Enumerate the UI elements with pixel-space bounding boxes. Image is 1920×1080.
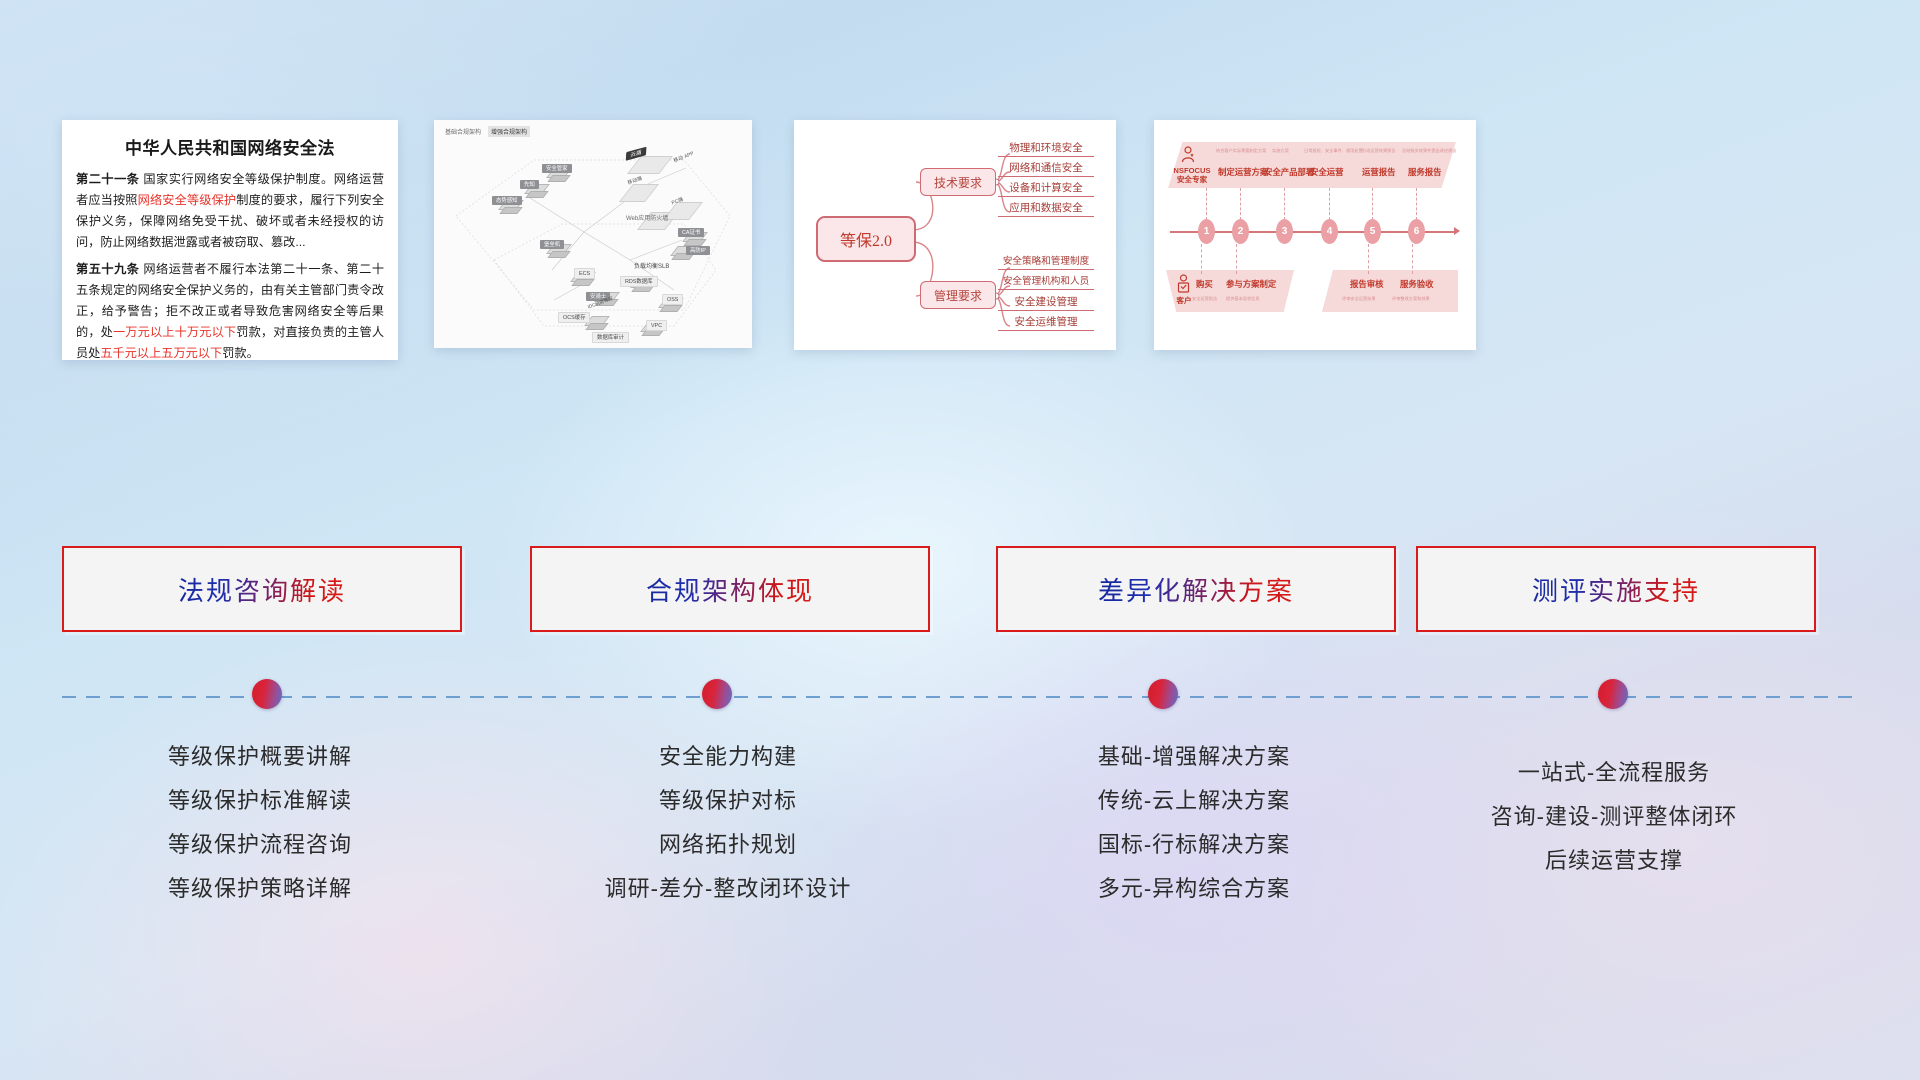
arch-node-db-audit: 数据库审计 <box>592 332 629 343</box>
top-step-3-sub: 日常巡检、安全事件、通用处置 <box>1304 148 1363 154</box>
law-p2-text-c: 罚款。 <box>222 346 259 360</box>
button-label-1: 法规咨询解读 <box>178 571 346 608</box>
mindmap-root-node: 等保2.0 <box>816 216 916 262</box>
button-differentiated-solution[interactable]: 差异化解决方案 <box>996 546 1396 632</box>
brand-nsfocus: NSFOCUS <box>1170 166 1214 175</box>
top-step-2-sub: 实施方案 <box>1272 148 1289 154</box>
timeline-step-dot-6[interactable]: 6 <box>1408 219 1425 244</box>
mindmap-leaf-physical-env: 物理和环境安全 <box>998 142 1094 157</box>
law-p2-highlight-1: 一万元以上十万元以下 <box>113 325 236 339</box>
button-regulation-consulting[interactable]: 法规咨询解读 <box>62 546 462 632</box>
law-article-59-label: 第五十九条 <box>76 262 139 276</box>
list-item: 等级保护流程咨询 <box>62 823 458 867</box>
arch-node-oss: OSS <box>662 294 683 305</box>
customer-icon <box>1176 274 1191 294</box>
timeline-tick-5 <box>1372 188 1373 220</box>
card-row: 中华人民共和国网络安全法 第二十一条 国家实行网络安全等级保护制度。网络运营者应… <box>0 120 1920 360</box>
timeline-tick-1 <box>1206 188 1207 220</box>
bottom-step-1-main: 购买 <box>1196 278 1213 290</box>
bottom-step-4-main: 服务验收 <box>1400 278 1434 290</box>
list-item: 传统-云上解决方案 <box>996 779 1392 823</box>
timeline-tick-b2 <box>1236 244 1237 274</box>
architecture-diagram: 基础合规架构 增强合规架构 <box>434 120 752 348</box>
list-item: 等级保护对标 <box>530 779 926 823</box>
law-p2-highlight-2: 五千元以上五万元以下 <box>100 346 222 360</box>
timeline-tick-b1 <box>1201 244 1202 274</box>
law-paragraph-21: 第二十一条 国家实行网络安全等级保护制度。网络运营者应当按照网络安全等级保护制度… <box>76 169 384 253</box>
mindmap-leaf-policy-system: 安全策略和管理制度 <box>998 256 1094 270</box>
detail-list-row: 等级保护概要讲解 等级保护标准解读 等级保护流程咨询 等级保护策略详解 安全能力… <box>0 735 1920 965</box>
bottom-step-2-sub: 提供基本现状信息 <box>1226 296 1260 302</box>
timeline-step-dot-5[interactable]: 5 <box>1364 219 1381 244</box>
arch-node-anquanguanjia: 安全管家 <box>542 164 572 173</box>
card-mindmap-dengbao[interactable]: 等保2.0 技术要求 管理要求 物理和环境安全 网络和通信安全 设备和计算安全 … <box>794 120 1116 350</box>
law-p1-highlight: 网络安全等级保护 <box>138 193 237 207</box>
arch-node-slb: 负载均衡SLB <box>630 262 673 272</box>
top-step-3-main: 安全运营 <box>1310 166 1344 178</box>
list-item: 多元-异构综合方案 <box>996 867 1392 911</box>
law-article-21-label: 第二十一条 <box>76 172 139 186</box>
law-text-block: 中华人民共和国网络安全法 第二十一条 国家实行网络安全等级保护制度。网络运营者应… <box>62 120 398 360</box>
list-item: 国标-行标解决方案 <box>996 823 1392 867</box>
list-item: 基础-增强解决方案 <box>996 735 1392 779</box>
top-step-1-main: 制定运营方案 <box>1218 166 1268 178</box>
timeline-tick-2 <box>1240 188 1241 220</box>
button-evaluation-support[interactable]: 测评实施支持 <box>1416 546 1816 632</box>
timeline-step-dot-3[interactable]: 3 <box>1276 219 1293 244</box>
mindmap-leaf-org-personnel: 安全管理机构和人员 <box>998 276 1094 290</box>
law-paragraph-59: 第五十九条 网络运营者不履行本法第二十一条、第二十五条规定的网络安全保护义务的，… <box>76 259 384 360</box>
button-compliance-architecture[interactable]: 合规架构体现 <box>530 546 930 632</box>
arch-node-ca-cert: CA证书 <box>678 228 704 237</box>
top-step-4-sub: 形成运营效果报告 <box>1362 148 1396 154</box>
arch-node-rds: RDS数据库 <box>620 276 658 287</box>
list-item: 一站式-全流程服务 <box>1416 751 1812 795</box>
arch-node-baoleiji: 堡垒机 <box>540 240 564 249</box>
detail-list-evaluation: 一站式-全流程服务 咨询-建设-测评整体闭环 后续运营支撑 <box>1416 751 1812 883</box>
arch-node-taishiganzhi: 态势感知 <box>492 196 522 205</box>
process-node-4[interactable] <box>1598 679 1628 709</box>
list-item: 调研-差分-整改闭环设计 <box>530 867 926 911</box>
timeline-arrow-icon <box>1454 227 1460 235</box>
process-node-3[interactable] <box>1148 679 1178 709</box>
process-dashed-line <box>62 696 1852 698</box>
top-step-2-main: 安全产品部署 <box>1264 166 1314 178</box>
list-item: 咨询-建设-测评整体闭环 <box>1416 795 1812 839</box>
category-button-row: 法规咨询解读 合规架构体现 差异化解决方案 测评实施支持 <box>0 546 1920 628</box>
timeline-tick-4 <box>1329 188 1330 220</box>
security-expert-icon <box>1180 146 1196 164</box>
mindmap-leaf-construction-mgmt: 安全建设管理 <box>998 296 1094 311</box>
list-item: 后续运营支撑 <box>1416 839 1812 883</box>
top-step-5-sub: 总结服务效果并提出改进建议 <box>1402 148 1456 154</box>
mindmap-branch-management: 管理要求 <box>920 281 996 309</box>
list-item: 等级保护标准解读 <box>62 779 458 823</box>
top-step-1-sub: 结合客户实际需要制定方案 <box>1216 148 1266 154</box>
timeline-bottom-right-band <box>1322 270 1458 312</box>
law-title: 中华人民共和国网络安全法 <box>76 134 384 159</box>
mindmap-leaf-ops-mgmt: 安全运维管理 <box>998 316 1094 331</box>
list-item: 网络拓扑规划 <box>530 823 926 867</box>
arch-node-ecs: ECS <box>574 268 595 279</box>
timeline-tick-b3 <box>1368 244 1369 274</box>
arch-node-vpc: VPC <box>646 320 667 331</box>
arch-node-ocs-cache: OCS缓存 <box>558 312 590 323</box>
button-label-3: 差异化解决方案 <box>1098 571 1294 608</box>
mindmap-leaf-device-compute: 设备和计算安全 <box>998 182 1094 197</box>
arch-node-waf: Web应用防火墙 <box>622 214 672 224</box>
brand-security-expert: 安全专家 <box>1170 175 1214 184</box>
mindmap: 等保2.0 技术要求 管理要求 物理和环境安全 网络和通信安全 设备和计算安全 … <box>794 120 1116 350</box>
mindmap-branch-technical: 技术要求 <box>920 168 996 196</box>
timeline-step-dot-1[interactable]: 1 <box>1198 219 1215 244</box>
detail-list-architecture: 安全能力构建 等级保护对标 网络拓扑规划 调研-差分-整改闭环设计 <box>530 735 926 911</box>
bottom-step-3-main: 报告审核 <box>1350 278 1384 290</box>
slide-canvas: 中华人民共和国网络安全法 第二十一条 国家实行网络安全等级保护制度。网络运营者应… <box>0 0 1920 1080</box>
timeline-tick-3 <box>1284 188 1285 220</box>
detail-list-regulation: 等级保护概要讲解 等级保护标准解读 等级保护流程咨询 等级保护策略详解 <box>62 735 458 911</box>
arch-node-anti-ddos-ip: 高防IP <box>686 246 710 255</box>
timeline-tick-6 <box>1416 188 1417 220</box>
timeline-step-dot-4[interactable]: 4 <box>1321 219 1338 244</box>
card-cybersecurity-law[interactable]: 中华人民共和国网络安全法 第二十一条 国家实行网络安全等级保护制度。网络运营者应… <box>62 120 398 360</box>
timeline-tick-b4 <box>1412 244 1413 274</box>
detail-list-solution: 基础-增强解决方案 传统-云上解决方案 国标-行标解决方案 多元-异构综合方案 <box>996 735 1392 911</box>
arch-node-xianzhi: 先知 <box>520 180 539 189</box>
top-step-4-main: 运营报告 <box>1362 166 1396 178</box>
list-item: 等级保护概要讲解 <box>62 735 458 779</box>
bottom-step-3-sub: 评审安全运营效果 <box>1342 296 1376 302</box>
mindmap-leaf-network-comm: 网络和通信安全 <box>998 162 1094 177</box>
top-step-5-main: 服务报告 <box>1408 166 1442 178</box>
card-cloud-architecture[interactable]: 基础合规架构 增强合规架构 <box>434 120 752 348</box>
timeline-step-dot-2[interactable]: 2 <box>1232 219 1249 244</box>
process-node-1[interactable] <box>252 679 282 709</box>
mindmap-leaf-app-data: 应用和数据安全 <box>998 202 1094 217</box>
bottom-step-2-main: 参与方案制定 <box>1226 278 1276 290</box>
list-item: 安全能力构建 <box>530 735 926 779</box>
service-timeline: NSFOCUS 安全专家 客户 结合客户实际需要制定方案 制定运营方案 实施方案… <box>1154 120 1476 350</box>
button-label-4: 测评实施支持 <box>1532 571 1700 608</box>
bottom-step-1-sub: 安全运营报告 <box>1192 296 1217 302</box>
list-item: 等级保护策略详解 <box>62 867 458 911</box>
button-label-2: 合规架构体现 <box>646 571 814 608</box>
bottom-step-4-sub: 评审整改方案和效果 <box>1392 296 1430 302</box>
card-nsfocus-service-timeline[interactable]: NSFOCUS 安全专家 客户 结合客户实际需要制定方案 制定运营方案 实施方案… <box>1154 120 1476 350</box>
process-node-2[interactable] <box>702 679 732 709</box>
